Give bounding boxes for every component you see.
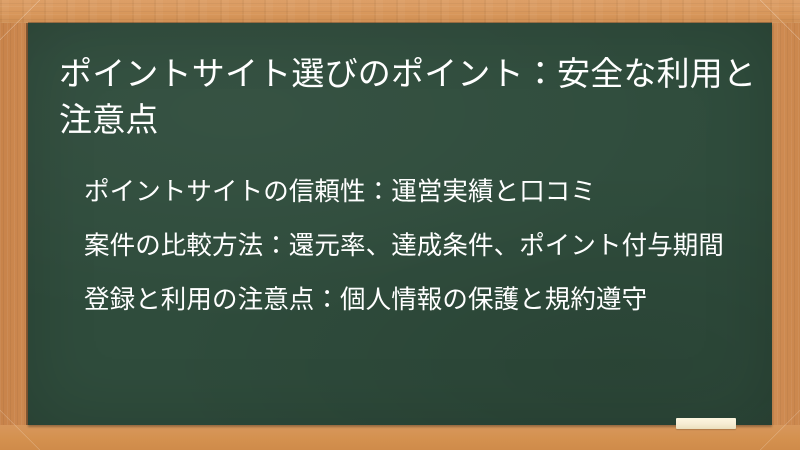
slide-title: ポイントサイト選びのポイント：安全な利用と注意点 bbox=[59, 51, 759, 143]
wooden-frame-top-rail bbox=[0, 0, 800, 23]
slide-content: ポイントサイト選びのポイント：安全な利用と注意点 ポイントサイトの信頼性：運営実… bbox=[28, 23, 772, 425]
list-item: ポイントサイトの信頼性：運営実績と口コミ bbox=[84, 175, 756, 209]
chalkboard-slide: ポイントサイト選びのポイント：安全な利用と注意点 ポイントサイトの信頼性：運営実… bbox=[0, 0, 800, 450]
list-item: 登録と利用の注意点：個人情報の保護と規約遵守 bbox=[84, 283, 756, 317]
slide-bullet-list: ポイントサイトの信頼性：運営実績と口コミ 案件の比較方法：還元率、達成条件、ポイ… bbox=[84, 175, 756, 317]
list-item: 案件の比較方法：還元率、達成条件、ポイント付与期間 bbox=[84, 229, 756, 263]
chalk-stick-icon bbox=[676, 418, 736, 429]
chalkboard-surface: ポイントサイト選びのポイント：安全な利用と注意点 ポイントサイトの信頼性：運営実… bbox=[28, 23, 772, 425]
